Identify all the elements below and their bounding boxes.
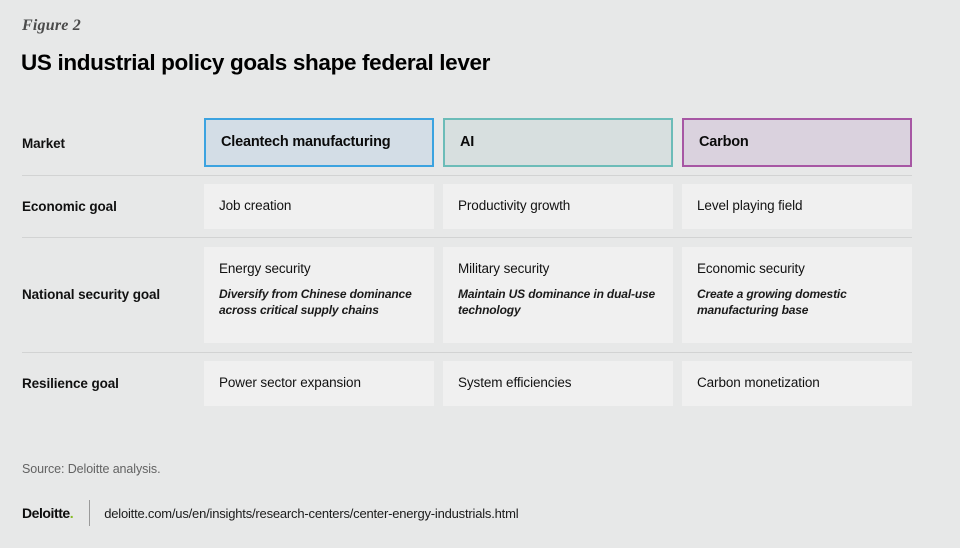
cell-subtext: Create a growing domestic manufacturing … (697, 287, 897, 319)
cell-title: System efficiencies (458, 375, 658, 392)
row-label-national-security-goal: National security goal (22, 238, 204, 352)
cell-economic-goal-carbon: Level playing field (682, 184, 912, 229)
cell-national-security-carbon: Economic security Create a growing domes… (682, 247, 912, 343)
deloitte-logo: Deloitte. (22, 505, 73, 521)
cell-economic-goal-ai: Productivity growth (443, 184, 673, 229)
header-cell-cleantech[interactable]: Cleantech manufacturing (204, 118, 434, 167)
footer-url[interactable]: deloitte.com/us/en/insights/research-cen… (104, 506, 518, 521)
deloitte-logo-text: Deloitte (22, 505, 70, 521)
policy-goals-table: Market Cleantech manufacturing AI Carbon… (22, 112, 912, 414)
figure-label: Figure 2 (22, 17, 81, 35)
header-cell-carbon[interactable]: Carbon (682, 118, 912, 167)
table-row-resilience-goal: Resilience goal Power sector expansion S… (22, 352, 912, 414)
figure-title: US industrial policy goals shape federal… (21, 50, 490, 76)
source-note: Source: Deloitte analysis. (22, 462, 160, 476)
cell-title: Level playing field (697, 198, 897, 215)
cell-title: Productivity growth (458, 198, 658, 215)
cell-title: Economic security (697, 261, 897, 278)
header-cell-carbon-label: Carbon (699, 133, 895, 151)
table-row-market: Market Cleantech manufacturing AI Carbon (22, 112, 912, 175)
table-row-national-security-goal: National security goal Energy security D… (22, 237, 912, 352)
footer-bar: Deloitte. deloitte.com/us/en/insights/re… (22, 500, 518, 526)
cell-subtext: Maintain US dominance in dual-use techno… (458, 287, 658, 319)
cell-title: Job creation (219, 198, 419, 215)
cell-title: Energy security (219, 261, 419, 278)
row-cells-economic-goal: Job creation Productivity growth Level p… (204, 176, 912, 237)
row-label-economic-goal: Economic goal (22, 176, 204, 237)
cell-resilience-ai: System efficiencies (443, 361, 673, 406)
footer-divider (89, 500, 90, 526)
cell-subtext: Diversify from Chinese dominance across … (219, 287, 419, 319)
figure-page: Figure 2 US industrial policy goals shap… (0, 0, 960, 548)
row-cells-resilience-goal: Power sector expansion System efficienci… (204, 353, 912, 414)
cell-national-security-ai: Military security Maintain US dominance … (443, 247, 673, 343)
deloitte-logo-dot: . (70, 505, 73, 521)
cell-title: Carbon monetization (697, 375, 897, 392)
header-cell-cleantech-label: Cleantech manufacturing (221, 133, 417, 151)
row-cells-national-security-goal: Energy security Diversify from Chinese d… (204, 238, 912, 352)
row-label-resilience-goal: Resilience goal (22, 353, 204, 414)
cell-national-security-cleantech: Energy security Diversify from Chinese d… (204, 247, 434, 343)
row-label-market: Market (22, 112, 204, 175)
table-row-economic-goal: Economic goal Job creation Productivity … (22, 175, 912, 237)
cell-resilience-carbon: Carbon monetization (682, 361, 912, 406)
cell-title: Power sector expansion (219, 375, 419, 392)
cell-resilience-cleantech: Power sector expansion (204, 361, 434, 406)
header-cell-ai-label: AI (460, 133, 656, 151)
cell-title: Military security (458, 261, 658, 278)
header-cell-ai[interactable]: AI (443, 118, 673, 167)
cell-economic-goal-cleantech: Job creation (204, 184, 434, 229)
row-cells-market: Cleantech manufacturing AI Carbon (204, 112, 912, 175)
